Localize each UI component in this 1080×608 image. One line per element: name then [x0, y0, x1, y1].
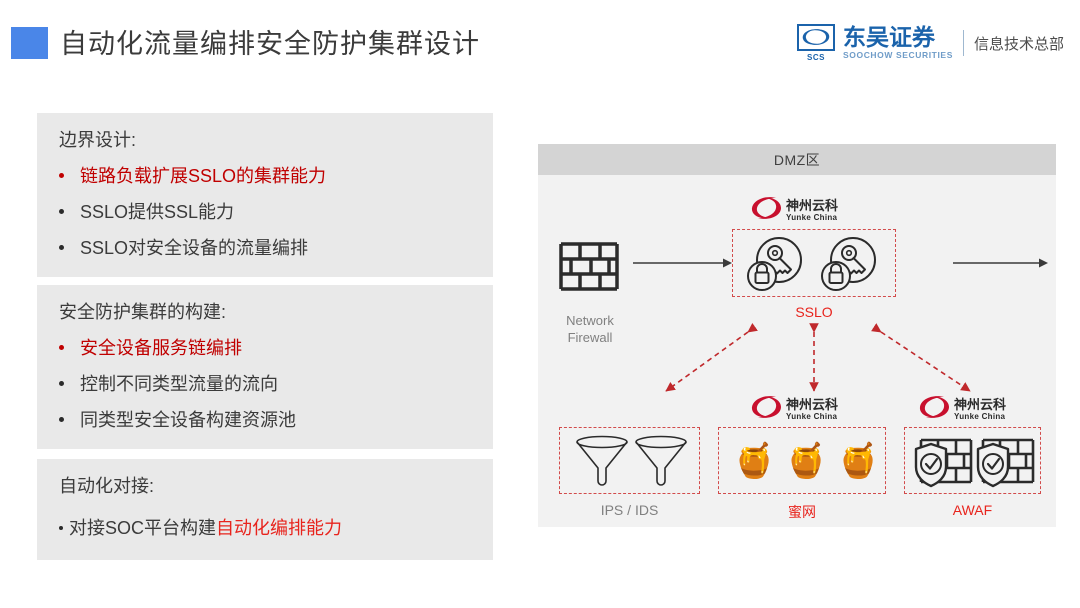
content-panel-cluster-build: 安全防护集群的构建: 安全设备服务链编排 控制不同类型流量的流向 同类型安全设备… [37, 285, 493, 449]
panel-heading: 自动化对接: [59, 473, 493, 499]
brand-divider [963, 30, 964, 56]
vendor-name-en: Yunke China [954, 412, 1006, 422]
awaf-group-box [904, 427, 1041, 494]
list-item-label: 安全设备服务链编排 [80, 335, 242, 361]
vendor-name-cn: 神州云科 [954, 398, 1006, 412]
honeypot-icon: 🍯 [785, 436, 827, 486]
panel-heading: 安全防护集群的构建: [59, 299, 493, 325]
list-item-text-plain: 对接SOC平台构建 [69, 518, 216, 538]
bullet-dot-icon [59, 345, 64, 350]
scs-monogram: SCS [797, 53, 835, 62]
list-item: 链路负载扩展SSLO的集群能力 [59, 163, 493, 189]
bullet-dot-icon [59, 173, 64, 178]
honeypot-icon: 🍯 [733, 436, 775, 486]
funnel-icon [574, 435, 630, 493]
honeynet-label: 蜜网 [718, 502, 886, 522]
ips-ids-label: IPS / IDS [559, 502, 700, 518]
vendor-logo-honeynet: 神州云科 Yunke China [750, 394, 838, 425]
list-item: 对接SOC平台构建自动化编排能力 [59, 515, 493, 541]
soochow-logo-mark: SCS [797, 24, 837, 62]
bullet-dot-icon [59, 417, 64, 422]
funnel-icon [633, 435, 689, 493]
brand-names: 东吴证券 SOOCHOW SECURITIES [843, 25, 953, 61]
panel-heading: 边界设计: [59, 127, 493, 153]
brand-name-cn: 东吴证券 [843, 25, 953, 50]
yunke-swirl-icon [918, 394, 950, 425]
list-item: 安全设备服务链编排 [59, 335, 493, 361]
vendor-logo-text: 神州云科 Yunke China [954, 398, 1006, 422]
yunke-swirl-icon [750, 394, 782, 425]
content-panel-boundary-design: 边界设计: 链路负载扩展SSLO的集群能力 SSLO提供SSL能力 SSLO对安… [37, 113, 493, 277]
list-item-label: SSLO提供SSL能力 [80, 199, 234, 225]
list-item-label: 控制不同类型流量的流向 [80, 371, 278, 397]
shield-wall-icon [975, 434, 1035, 494]
brand-logo: SCS 东吴证券 SOOCHOW SECURITIES 信息技术总部 [797, 22, 1064, 64]
bullet-dot-icon [59, 245, 64, 250]
honeypot-icon: 🍯 [837, 436, 879, 486]
awaf-label: AWAF [904, 502, 1041, 518]
honeynet-group-box: 🍯 🍯 🍯 [718, 427, 886, 494]
list-item-label: 同类型安全设备构建资源池 [80, 407, 296, 433]
architecture-diagram: DMZ区 Network Firewall [538, 144, 1056, 527]
swirl-icon [797, 24, 835, 51]
content-panel-automation: 自动化对接: 对接SOC平台构建自动化编排能力 [37, 459, 493, 560]
title-accent-bar [11, 27, 48, 59]
brand-name-en: SOOCHOW SECURITIES [843, 50, 953, 61]
list-item: SSLO提供SSL能力 [59, 199, 493, 225]
ips-ids-group-box [559, 427, 700, 494]
list-item-label: SSLO对安全设备的流量编排 [80, 235, 308, 261]
vendor-logo-awaf: 神州云科 Yunke China [918, 394, 1006, 425]
list-item-label: 链路负载扩展SSLO的集群能力 [80, 163, 326, 189]
page-title: 自动化流量编排安全防护集群设计 [60, 22, 480, 61]
vendor-name-cn: 神州云科 [786, 398, 838, 412]
vendor-name-en: Yunke China [786, 412, 838, 422]
bullet-dot-icon [59, 526, 63, 530]
list-item-label: 对接SOC平台构建自动化编排能力 [69, 515, 342, 541]
bullet-dot-icon [59, 381, 64, 386]
list-item: SSLO对安全设备的流量编排 [59, 235, 493, 261]
brand-department: 信息技术总部 [974, 33, 1064, 54]
vendor-logo-text: 神州云科 Yunke China [786, 398, 838, 422]
bullet-dot-icon [59, 209, 64, 214]
list-item: 控制不同类型流量的流向 [59, 371, 493, 397]
shield-wall-icon [913, 434, 973, 494]
list-item: 同类型安全设备构建资源池 [59, 407, 493, 433]
list-item-text-highlight: 自动化编排能力 [216, 518, 342, 538]
slide-header: 自动化流量编排安全防护集群设计 SCS 东吴证券 SOOCHOW SECURIT… [0, 0, 1080, 90]
